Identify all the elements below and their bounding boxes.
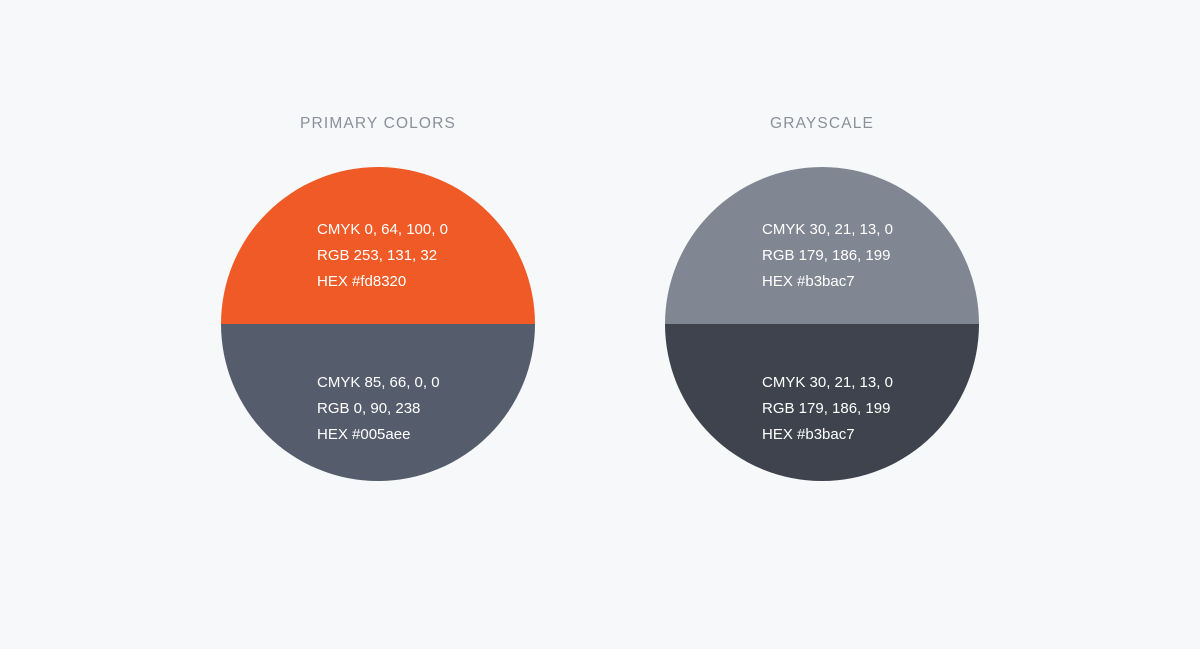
color-wheel-primary-colors: CMYK 0, 64, 100, 0 RGB 253, 131, 32 HEX … xyxy=(221,167,535,481)
swatch-hex-value: HEX #b3bac7 xyxy=(762,269,979,295)
group-title-grayscale: GRAYSCALE xyxy=(602,114,1042,134)
swatch-rgb-value: RGB 179, 186, 199 xyxy=(762,243,979,269)
swatch-rgb-value: RGB 0, 90, 238 xyxy=(317,396,535,422)
swatch-rgb-value: RGB 179, 186, 199 xyxy=(762,396,979,422)
swatch-half-orange[interactable]: CMYK 0, 64, 100, 0 RGB 253, 131, 32 HEX … xyxy=(221,167,535,324)
swatch-cmyk-value: CMYK 85, 66, 0, 0 xyxy=(317,370,535,396)
color-palette-canvas: PRIMARY COLORS CMYK 0, 64, 100, 0 RGB 25… xyxy=(0,0,1200,649)
swatch-values-slate-blue: CMYK 85, 66, 0, 0 RGB 0, 90, 238 HEX #00… xyxy=(317,370,535,448)
swatch-half-dark-gray[interactable]: CMYK 30, 21, 13, 0 RGB 179, 186, 199 HEX… xyxy=(665,324,979,481)
swatch-values-orange: CMYK 0, 64, 100, 0 RGB 253, 131, 32 HEX … xyxy=(317,217,535,295)
swatch-values-light-gray: CMYK 30, 21, 13, 0 RGB 179, 186, 199 HEX… xyxy=(762,217,979,295)
swatch-values-dark-gray: CMYK 30, 21, 13, 0 RGB 179, 186, 199 HEX… xyxy=(762,370,979,448)
swatch-hex-value: HEX #b3bac7 xyxy=(762,422,979,448)
group-title-primary-colors: PRIMARY COLORS xyxy=(158,114,598,134)
swatch-group-grayscale: GRAYSCALE CMYK 30, 21, 13, 0 RGB 179, 18… xyxy=(602,0,1042,649)
swatch-cmyk-value: CMYK 0, 64, 100, 0 xyxy=(317,217,535,243)
swatch-cmyk-value: CMYK 30, 21, 13, 0 xyxy=(762,217,979,243)
swatch-cmyk-value: CMYK 30, 21, 13, 0 xyxy=(762,370,979,396)
swatch-rgb-value: RGB 253, 131, 32 xyxy=(317,243,535,269)
swatch-hex-value: HEX #005aee xyxy=(317,422,535,448)
swatch-half-slate-blue[interactable]: CMYK 85, 66, 0, 0 RGB 0, 90, 238 HEX #00… xyxy=(221,324,535,481)
color-wheel-grayscale: CMYK 30, 21, 13, 0 RGB 179, 186, 199 HEX… xyxy=(665,167,979,481)
swatch-hex-value: HEX #fd8320 xyxy=(317,269,535,295)
swatch-half-light-gray[interactable]: CMYK 30, 21, 13, 0 RGB 179, 186, 199 HEX… xyxy=(665,167,979,324)
swatch-group-primary-colors: PRIMARY COLORS CMYK 0, 64, 100, 0 RGB 25… xyxy=(158,0,598,649)
